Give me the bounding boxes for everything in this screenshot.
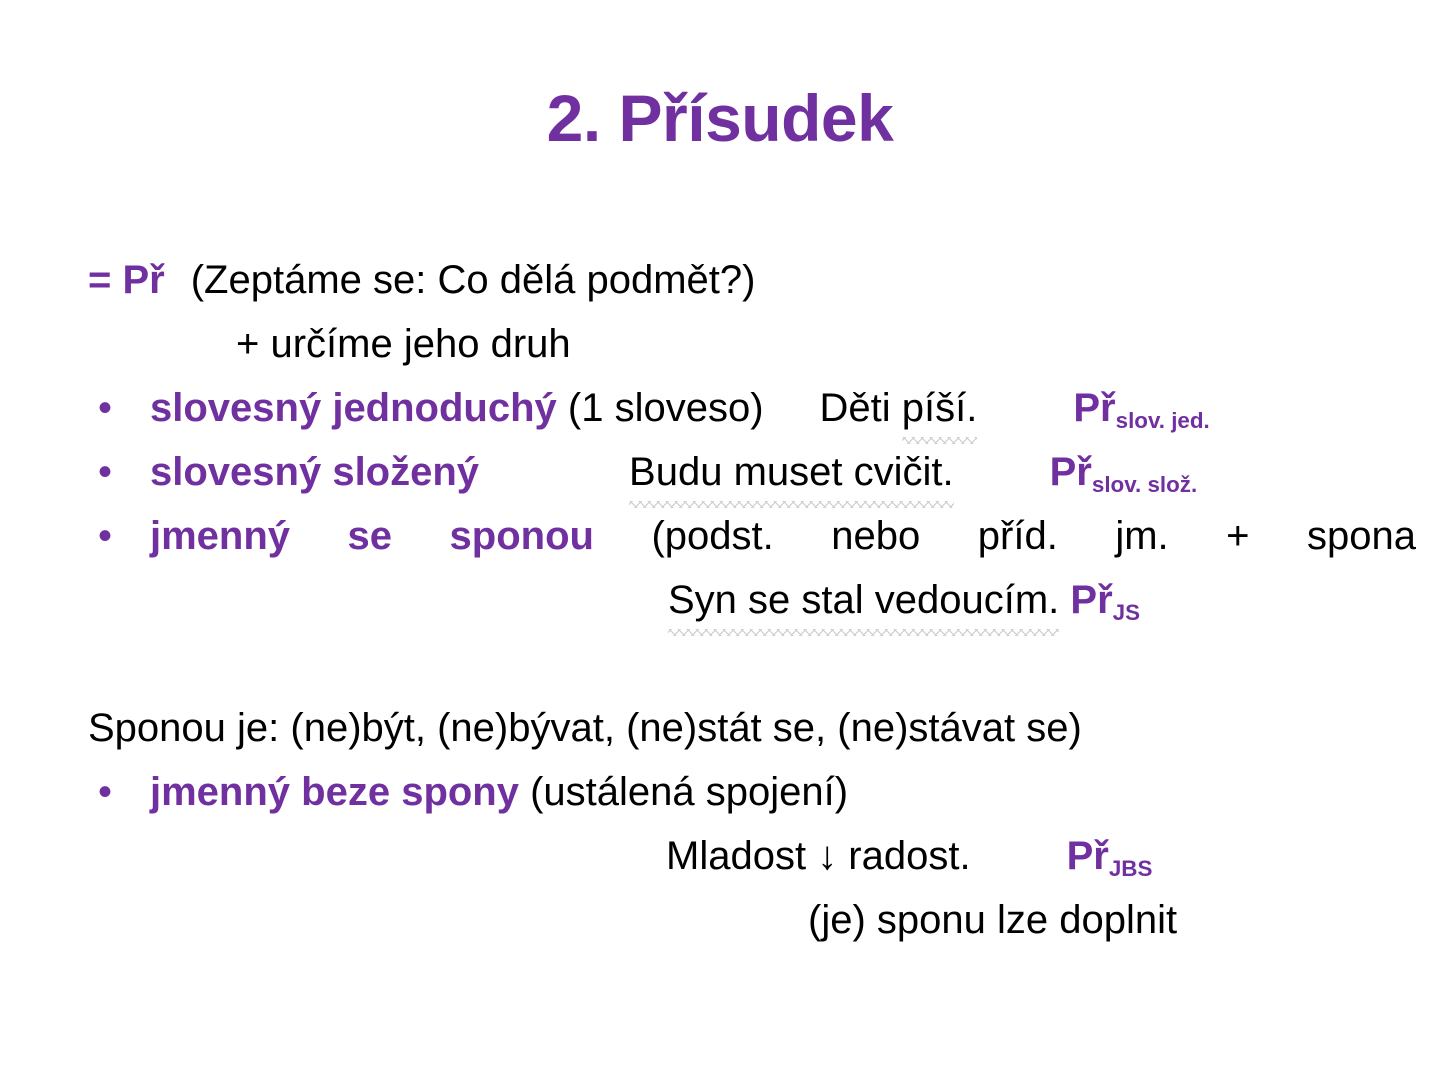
marker-subscript: slov. jed. (1116, 408, 1210, 433)
type-name-jmenny-beze-spony: jmenný beze spony (150, 770, 519, 814)
example-line-syn: Syn se stal vedoucím. PřJS (88, 568, 1368, 632)
marker-pr-jbs: PřJBS (1067, 834, 1153, 878)
bullet-dot-icon: • (98, 504, 112, 568)
example-budu-muset-cvicit: Budu muset cvičit. (629, 440, 954, 504)
marker-base: Př (1073, 386, 1115, 430)
example-mladost-radost: Mladost ↓ radost. (666, 834, 971, 878)
copula-note-line: Sponou je: (ne)být, (ne)bývat, (ne)stát … (88, 696, 1368, 760)
marker-base: Př (1067, 834, 1109, 878)
bullet-dot-icon: • (98, 440, 112, 504)
definition-equals-label: = Př (88, 258, 165, 302)
type-name-slovesny-slozeny: slovesný složený (150, 450, 479, 494)
example-line-mladost: Mladost ↓ radost.PřJBS (88, 824, 1368, 888)
copula-note-text: Sponou je: (ne)být, (ne)bývat, (ne)stát … (88, 706, 1082, 750)
type-note-slovesny-jednoduchy: (1 sloveso) (568, 386, 764, 430)
blank-line (88, 632, 1368, 696)
example-prefix-deti: Děti (820, 386, 902, 430)
list-item: • jmenný se sponou (podst. nebo příd. jm… (88, 504, 1416, 568)
definition-line: = Př(Zeptáme se: Co dělá podmět?) (88, 248, 1368, 312)
slide-body: = Př(Zeptáme se: Co dělá podmět?) + určí… (88, 248, 1368, 952)
footnote-line: (je) sponu lze doplnit (88, 888, 1368, 952)
footnote-text: (je) sponu lze doplnit (808, 898, 1177, 942)
marker-base: Př (1070, 578, 1112, 622)
marker-pr-slov-jed: Přslov. jed. (1073, 386, 1209, 430)
definition-second-line-text: + určíme jeho druh (236, 322, 571, 366)
type-name-jmenny-se-sponou: jmenný se sponou (150, 514, 594, 558)
type-note-jmenny-beze-spony: (ustálená spojení) (530, 770, 848, 814)
marker-subscript: JBS (1109, 856, 1153, 881)
slide-canvas: 2. Přísudek = Př(Zeptáme se: Co dělá pod… (0, 0, 1440, 1080)
list-item: • slovesný jednoduchý (1 sloveso)Děti pí… (88, 376, 1368, 440)
example-syn-se-stal-vedoucim: Syn se stal vedoucím. (668, 568, 1059, 632)
bullet-dot-icon: • (98, 760, 112, 824)
definition-question: (Zeptáme se: Co dělá podmět?) (191, 258, 756, 302)
marker-base: Př (1050, 450, 1092, 494)
list-item: • slovesný složenýBudu muset cvičit.Přsl… (88, 440, 1368, 504)
definition-second-line: + určíme jeho druh (88, 312, 1368, 376)
marker-pr-js: PřJS (1070, 578, 1140, 622)
marker-pr-slov-sloz: Přslov. slož. (1050, 450, 1198, 494)
example-misspelled-pisi: píší. (902, 376, 978, 440)
bullet-dot-icon: • (98, 376, 112, 440)
page-title: 2. Přísudek (0, 82, 1440, 155)
list-item: • jmenný beze spony (ustálená spojení) (88, 760, 1368, 824)
marker-subscript: JS (1113, 600, 1140, 625)
marker-subscript: slov. slož. (1092, 472, 1197, 497)
type-name-slovesny-jednoduchy: slovesný jednoduchý (150, 386, 557, 430)
type-note-jmenny-se-sponou: (podst. nebo příd. jm. + spona (651, 514, 1416, 558)
